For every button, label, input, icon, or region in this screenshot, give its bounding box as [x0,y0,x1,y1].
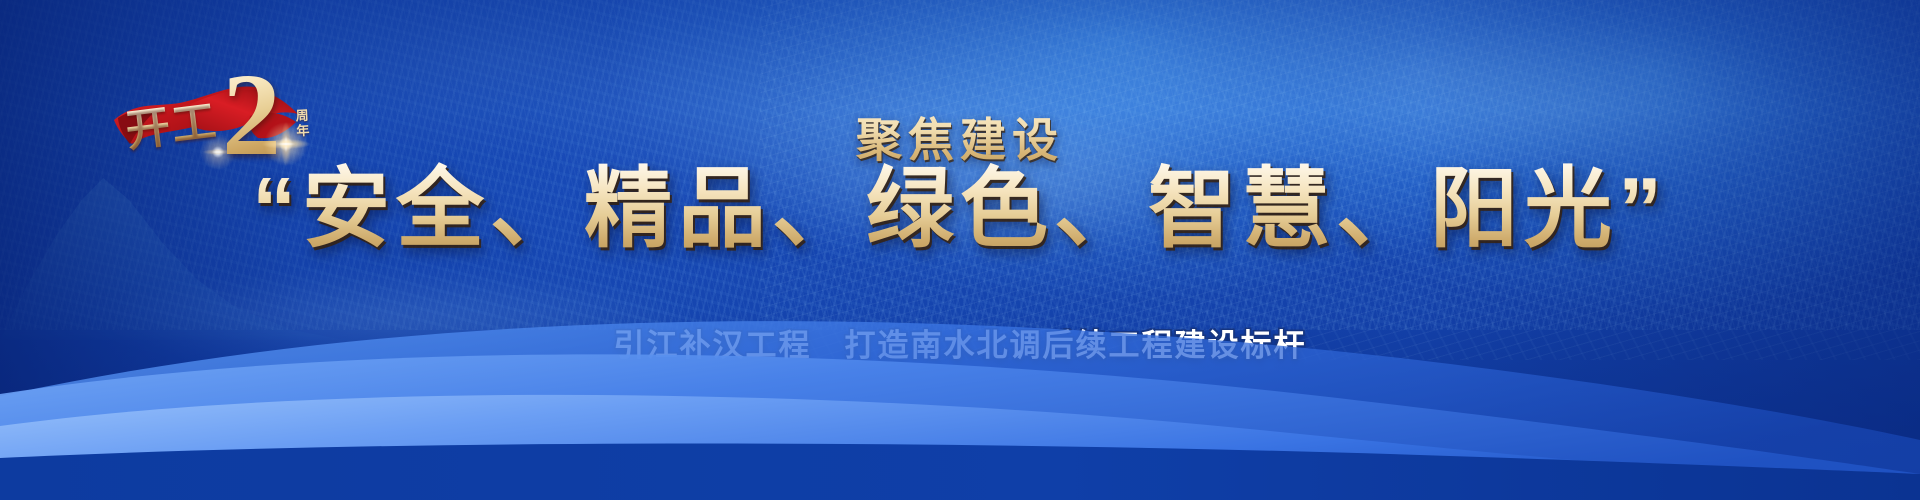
banner-root: 开工 2 周年 聚焦建设 “安全、精品、绿色、智慧、阳光” 引江补汉工程 打造南… [0,0,1920,500]
subtitle: 引江补汉工程 打造南水北调后续工程建设标杆 [0,320,1920,365]
page-title: “安全、精品、绿色、智慧、阳光” [0,160,1920,259]
